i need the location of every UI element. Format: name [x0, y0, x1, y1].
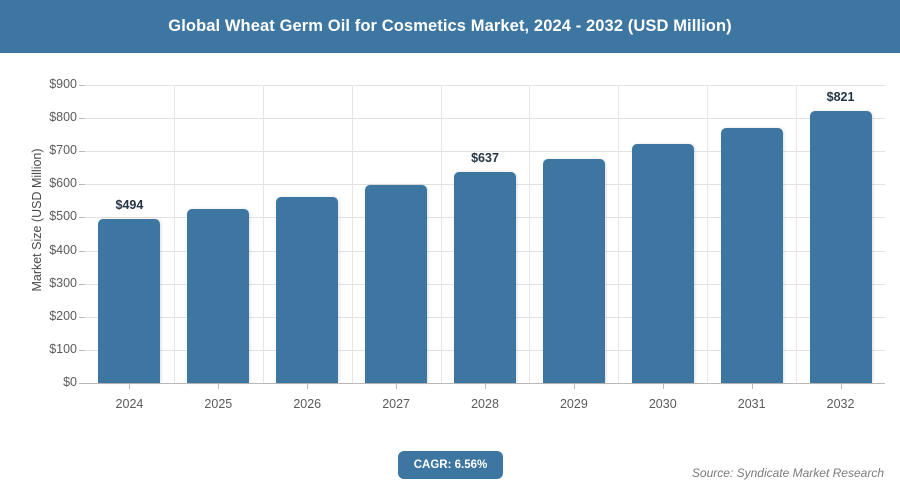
bar-value-label: $821: [796, 90, 886, 104]
x-tick-label: 2028: [440, 397, 530, 411]
y-tick-label: $900: [7, 77, 77, 91]
bar-group[interactable]: [365, 85, 427, 383]
y-tick-mark: [79, 151, 85, 152]
bar-value-label: $637: [440, 151, 530, 165]
x-tick-label: 2030: [618, 397, 708, 411]
bar-group[interactable]: [187, 85, 249, 383]
x-tick-label: 2026: [262, 397, 352, 411]
y-tick-mark: [79, 383, 85, 384]
bar[interactable]: [632, 144, 694, 383]
y-tick-label: $100: [7, 342, 77, 356]
bar-group[interactable]: $637: [454, 85, 516, 383]
x-gridline: [529, 85, 530, 383]
x-tick-label: 2027: [351, 397, 441, 411]
y-tick-label: $600: [7, 176, 77, 190]
y-tick-mark: [79, 317, 85, 318]
x-tick-mark: [485, 383, 486, 389]
y-tick-mark: [79, 184, 85, 185]
y-tick-label: $400: [7, 243, 77, 257]
x-tick-mark: [218, 383, 219, 389]
y-tick-mark: [79, 85, 85, 86]
bar-group[interactable]: [632, 85, 694, 383]
y-tick-label: $500: [7, 209, 77, 223]
x-tick-mark: [574, 383, 575, 389]
x-tick-mark: [841, 383, 842, 389]
x-tick-mark: [129, 383, 130, 389]
y-tick-mark: [79, 251, 85, 252]
cagr-badge: CAGR: 6.56%: [398, 451, 503, 479]
bar[interactable]: [454, 172, 516, 383]
chart-header-band: Global Wheat Germ Oil for Cosmetics Mark…: [0, 0, 900, 53]
y-tick-label: $700: [7, 143, 77, 157]
bar-group[interactable]: $494: [98, 85, 160, 383]
bar-group[interactable]: [543, 85, 605, 383]
x-tick-label: 2024: [84, 397, 174, 411]
bar-group[interactable]: [276, 85, 338, 383]
y-tick-label: $0: [7, 375, 77, 389]
bar[interactable]: [98, 219, 160, 383]
bar-group[interactable]: [721, 85, 783, 383]
x-gridline: [796, 85, 797, 383]
bar[interactable]: [721, 128, 783, 383]
source-note: Source: Syndicate Market Research: [692, 466, 884, 480]
x-gridline: [174, 85, 175, 383]
bar[interactable]: [365, 185, 427, 383]
plot-area: $0$100$200$300$400$500$600$700$800$900$4…: [85, 85, 885, 383]
y-tick-mark: [79, 284, 85, 285]
bar[interactable]: [810, 111, 872, 383]
x-tick-mark: [307, 383, 308, 389]
bar[interactable]: [543, 159, 605, 383]
x-tick-mark: [396, 383, 397, 389]
x-gridline: [618, 85, 619, 383]
bar-value-label: $494: [84, 198, 174, 212]
x-tick-label: 2029: [529, 397, 619, 411]
y-tick-label: $300: [7, 276, 77, 290]
y-tick-label: $200: [7, 309, 77, 323]
x-tick-label: 2025: [173, 397, 263, 411]
x-gridline: [441, 85, 442, 383]
y-tick-mark: [79, 350, 85, 351]
y-tick-mark: [79, 217, 85, 218]
x-gridline: [352, 85, 353, 383]
chart-canvas: Market Size (USD Million) $0$100$200$300…: [0, 53, 900, 500]
x-tick-mark: [752, 383, 753, 389]
x-tick-label: 2032: [796, 397, 886, 411]
x-tick-mark: [663, 383, 664, 389]
x-tick-label: 2031: [707, 397, 797, 411]
chart-page: Global Wheat Germ Oil for Cosmetics Mark…: [0, 0, 900, 500]
y-tick-label: $800: [7, 110, 77, 124]
x-axis-line: [79, 383, 885, 384]
y-tick-mark: [79, 118, 85, 119]
bar[interactable]: [276, 197, 338, 383]
bar[interactable]: [187, 209, 249, 383]
x-gridline: [707, 85, 708, 383]
page-title: Global Wheat Germ Oil for Cosmetics Mark…: [168, 17, 731, 36]
bar-group[interactable]: $821: [810, 85, 872, 383]
x-gridline: [263, 85, 264, 383]
